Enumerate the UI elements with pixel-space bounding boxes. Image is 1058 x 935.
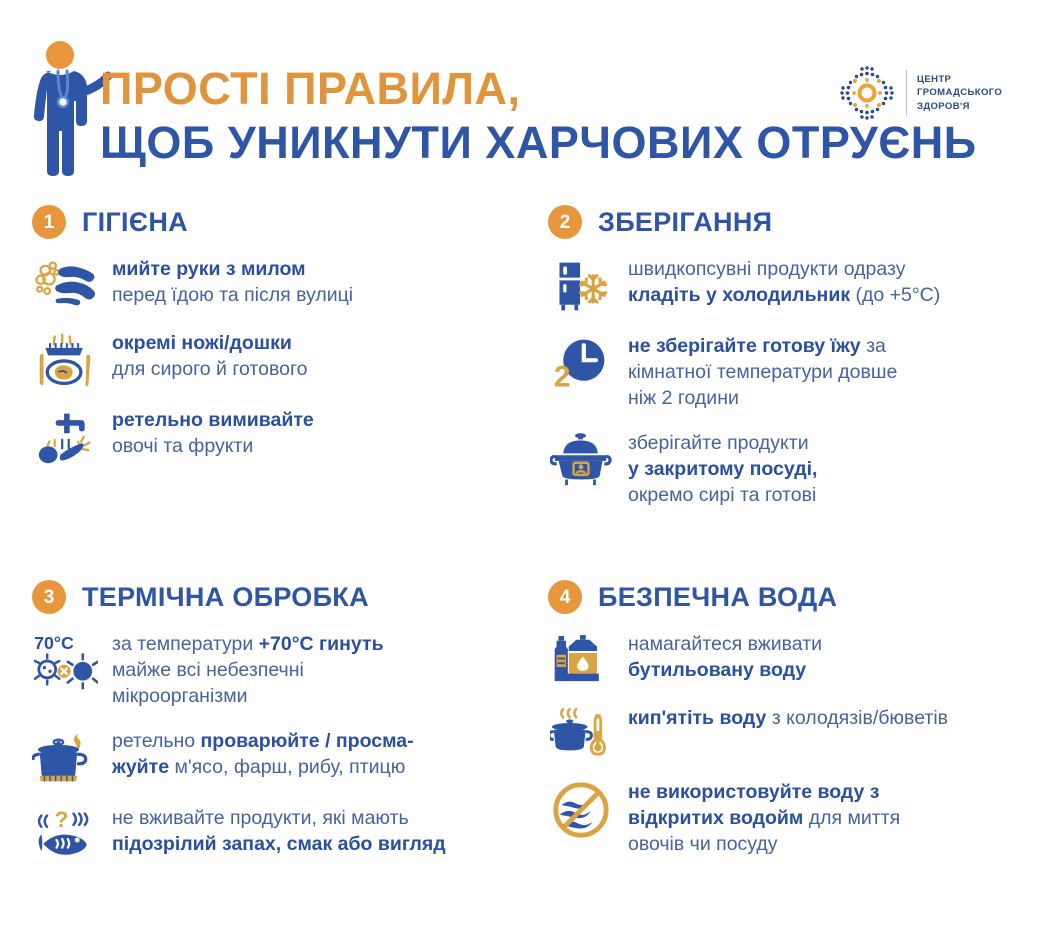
item-bold-text: підозрілий запах, смак або вигляд bbox=[112, 833, 446, 855]
washing-hands-icon bbox=[32, 255, 98, 312]
list-item-text: зберігайте продукти у закритому посуді, … bbox=[628, 429, 817, 509]
list-item: зберігайте продукти у закритому посуді, … bbox=[548, 429, 1048, 509]
list-item-text: намагайтеся вживати бутильовану воду bbox=[628, 630, 822, 684]
infographic-page: ПРОСТІ ПРАВИЛА, ЩОБ УНИКНУТИ ХАРЧОВИХ ОТ… bbox=[0, 0, 1058, 935]
list-item: ретельно вимивайте овочі та фрукти bbox=[32, 406, 532, 466]
section-header: 2 ЗБЕРІГАННЯ bbox=[548, 205, 1048, 239]
item-bold-text: не зберігайте готову їжу bbox=[628, 335, 861, 357]
logo-text-line-2: ГРОМАДСЬКОГО bbox=[917, 86, 1002, 99]
section-badge-2: 2 bbox=[548, 205, 582, 239]
item-plain-text: ретельно bbox=[112, 730, 201, 752]
list-item-text: швидкопсувні продукти одразу кладіть у х… bbox=[628, 255, 940, 309]
item-plain-text: майже всі небезпечні bbox=[112, 659, 304, 681]
item-plain-text: намагайтеся вживати bbox=[628, 633, 822, 655]
section-title-1: ГІГІЄНА bbox=[82, 209, 188, 236]
item-plain-text: зберігайте продукти bbox=[628, 432, 809, 454]
item-plain-text: не вживайте продукти, які мають bbox=[112, 807, 409, 829]
list-item: кип'ятіть воду з колодязів/бюветів bbox=[548, 704, 1048, 761]
svg-text:?: ? bbox=[55, 807, 69, 832]
list-item-text: не вживайте продукти, які мають підозріл… bbox=[112, 804, 446, 858]
list-item: ретельно проварюйте / просма- жуйте м'яс… bbox=[32, 727, 532, 787]
item-bold-text: відкритих водойм bbox=[628, 807, 803, 829]
item-plain-text: для сирого й готового bbox=[112, 358, 308, 380]
svg-text:70°C: 70°C bbox=[34, 633, 74, 653]
logo-divider bbox=[906, 70, 907, 116]
item-bold-text: бутильовану воду bbox=[628, 659, 806, 681]
section-title-2: ЗБЕРІГАННЯ bbox=[598, 209, 772, 236]
section-badge-3: 3 bbox=[32, 580, 66, 614]
item-plain-text: кімнатної температури довше bbox=[628, 361, 897, 383]
item-bold-text: жуйте bbox=[112, 756, 169, 778]
section-safe-water: 4 БЕЗПЕЧНА ВОДА bbox=[548, 580, 1048, 875]
svg-text:2: 2 bbox=[554, 360, 571, 392]
header: ПРОСТІ ПРАВИЛА, ЩОБ УНИКНУТИ ХАРЧОВИХ ОТ… bbox=[0, 28, 1058, 188]
item-bold-text: +70°C гинуть bbox=[259, 633, 384, 655]
list-item-text: не зберігайте готову їжу за кімнатної те… bbox=[628, 332, 897, 412]
item-bold-text: ретельно вимивайте bbox=[112, 409, 314, 431]
knife-cutting-board-icon bbox=[32, 329, 98, 389]
section-header: 4 БЕЗПЕЧНА ВОДА bbox=[548, 580, 1048, 614]
item-plain-text: за температури bbox=[112, 633, 259, 655]
seventy-degrees-germs-icon: 70°C bbox=[32, 630, 98, 690]
smelly-fish-icon: ? bbox=[32, 804, 98, 859]
item-bold-text: проварюйте / просма- bbox=[201, 730, 414, 752]
item-bold-text: кип'ятіть воду bbox=[628, 707, 766, 729]
section-hygiene: 1 ГІГІЄНА bbox=[32, 205, 532, 483]
clock-two-hours-icon: 2 bbox=[548, 332, 614, 392]
boiling-pot-icon bbox=[32, 727, 98, 787]
item-bold-text: мийте руки з милом bbox=[112, 258, 306, 280]
item-plain-text: за bbox=[861, 335, 886, 357]
list-item: ? не вживайте bbox=[32, 804, 532, 859]
tap-vegetables-icon bbox=[32, 406, 98, 466]
item-bold-text: окремі ножі/дошки bbox=[112, 332, 292, 354]
section-title-3: ТЕРМІЧНА ОБРОБКА bbox=[82, 584, 369, 611]
bottled-water-icon bbox=[548, 630, 614, 687]
section-title-4: БЕЗПЕЧНА ВОДА bbox=[598, 584, 837, 611]
item-plain-text: овочів чи посуду bbox=[628, 833, 778, 855]
list-item-text: ретельно проварюйте / просма- жуйте м'яс… bbox=[112, 727, 414, 781]
section-storage: 2 ЗБЕРІГАННЯ bbox=[548, 205, 1048, 526]
list-item-text: за температури +70°C гинуть майже всі не… bbox=[112, 630, 384, 710]
boil-water-thermometer-icon bbox=[548, 704, 614, 761]
dotted-sun-icon bbox=[838, 64, 896, 122]
logo-text: ЦЕНТР ГРОМАДСЬКОГО ЗДОРОВ'Я bbox=[917, 73, 1002, 113]
logo-text-line-1: ЦЕНТР bbox=[917, 73, 1002, 86]
item-plain-text: швидкопсувні продукти одразу bbox=[628, 258, 906, 280]
section-thermal-processing: 3 ТЕРМІЧНА ОБРОБКА 70°C bbox=[32, 580, 532, 876]
section-header: 3 ТЕРМІЧНА ОБРОБКА bbox=[32, 580, 532, 614]
list-item: швидкопсувні продукти одразу кладіть у х… bbox=[548, 255, 1048, 315]
list-item: 2 не зберігайте готову їжу за кімнатної … bbox=[548, 332, 1048, 412]
logo-text-line-3: ЗДОРОВ'Я bbox=[917, 100, 1002, 113]
list-item-text: ретельно вимивайте овочі та фрукти bbox=[112, 406, 314, 460]
title-line-2: ЩОБ УНИКНУТИ ХАРЧОВИХ ОТРУЄНЬ bbox=[100, 120, 1030, 166]
section-badge-1: 1 bbox=[32, 205, 66, 239]
no-open-water-icon bbox=[548, 778, 614, 840]
item-plain-text: м'ясо, фарш, рибу, птицю bbox=[169, 756, 405, 778]
item-bold-text: у закритому посуді, bbox=[628, 458, 817, 480]
item-plain-text: (до +5°C) bbox=[850, 284, 940, 306]
item-plain-text: з колодязів/бюветів bbox=[766, 707, 948, 729]
covered-pot-icon bbox=[548, 429, 614, 487]
item-plain-text: ніж 2 години bbox=[628, 387, 739, 409]
item-plain-text: овочі та фрукти bbox=[112, 435, 253, 457]
list-item: намагайтеся вживати бутильовану воду bbox=[548, 630, 1048, 687]
fridge-snowflake-icon bbox=[548, 255, 614, 315]
list-item-text: кип'ятіть воду з колодязів/бюветів bbox=[628, 704, 948, 732]
item-bold-text: не використовуйте воду з bbox=[628, 781, 879, 803]
list-item-text: мийте руки з милом перед їдою та після в… bbox=[112, 255, 353, 309]
item-bold-text: кладіть у холодильник bbox=[628, 284, 850, 306]
list-item-text: окремі ножі/дошки для сирого й готового bbox=[112, 329, 308, 383]
list-item: окремі ножі/дошки для сирого й готового bbox=[32, 329, 532, 389]
item-plain-text: окремо сирі та готові bbox=[628, 484, 816, 506]
item-plain-text: для миття bbox=[803, 807, 900, 829]
list-item: 70°C bbox=[32, 630, 532, 710]
organization-logo: ЦЕНТР ГРОМАДСЬКОГО ЗДОРОВ'Я bbox=[838, 62, 1020, 124]
section-badge-4: 4 bbox=[548, 580, 582, 614]
section-header: 1 ГІГІЄНА bbox=[32, 205, 532, 239]
item-plain-text: перед їдою та після вулиці bbox=[112, 284, 353, 306]
list-item-text: не використовуйте воду з відкритих водой… bbox=[628, 778, 900, 858]
list-item: мийте руки з милом перед їдою та після в… bbox=[32, 255, 532, 312]
item-plain-text: мікроорганізми bbox=[112, 685, 248, 707]
list-item: не використовуйте воду з відкритих водой… bbox=[548, 778, 1048, 858]
